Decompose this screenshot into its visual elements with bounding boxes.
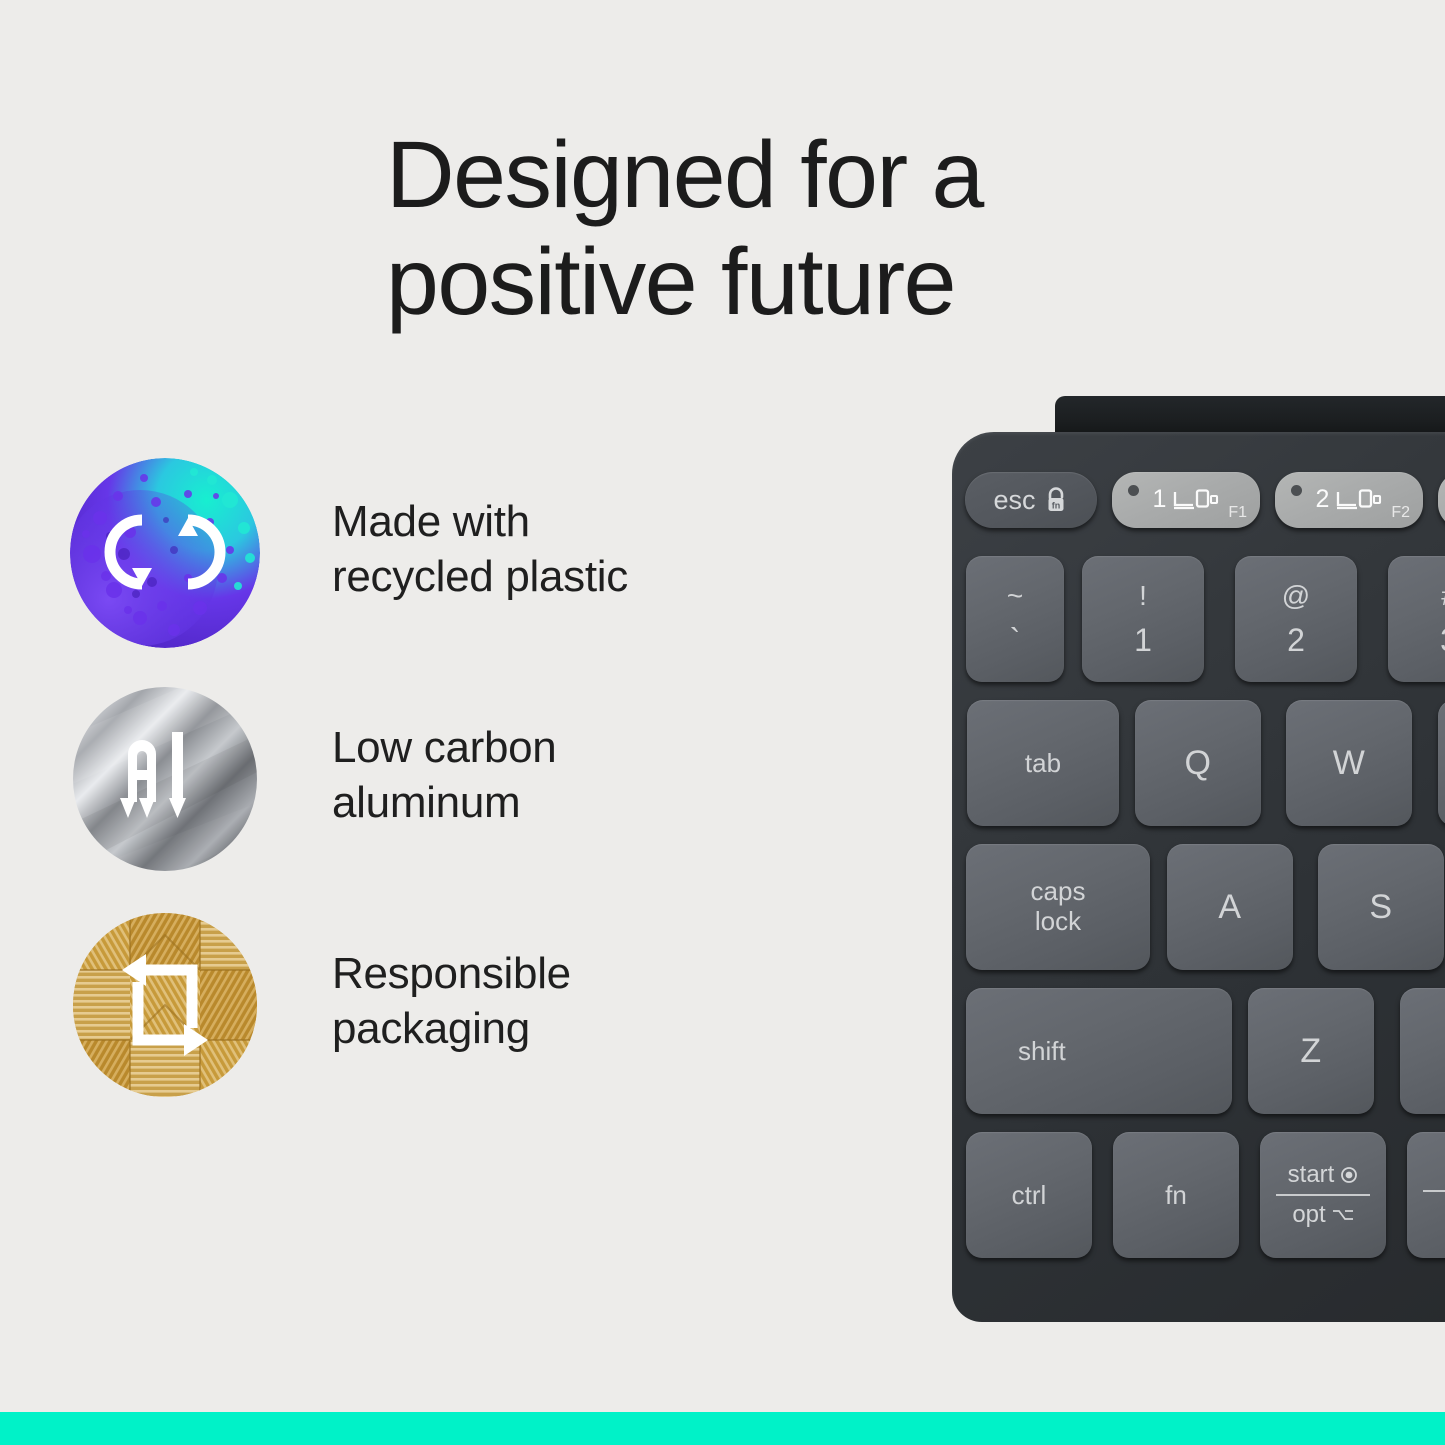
feature-low-carbon-aluminum: Low carbon aluminum [70, 684, 830, 910]
key-a-label: A [1218, 888, 1241, 927]
key-backtick-shift-label: ~ [1007, 580, 1023, 612]
key-3-shift-label: # [1441, 580, 1445, 612]
device-switch-icon [1171, 487, 1219, 513]
bottom-accent-bar [0, 1412, 1445, 1445]
feature-3-line-1: Responsible [332, 946, 802, 1001]
key-1[interactable]: ! 1 [1082, 556, 1204, 682]
key-start-label: start [1288, 1161, 1335, 1189]
feature-label-recycled-plastic: Made with recycled plastic [332, 494, 802, 604]
key-shift[interactable]: shift [966, 988, 1232, 1114]
key-3-label: 3 [1440, 622, 1445, 658]
key-cmd[interactable]: cmd [1407, 1132, 1445, 1258]
key-opt-label: opt [1292, 1201, 1325, 1229]
product-feature-panel: Designed for a positive future [0, 0, 1445, 1445]
sustainability-feature-list: Made with recycled plastic [70, 458, 830, 1136]
key-f3[interactable]: 3 F3 [1438, 472, 1445, 528]
key-esc-label: esc [993, 485, 1035, 516]
responsible-packaging-icon [70, 910, 260, 1100]
feature-recycled-plastic: Made with recycled plastic [70, 458, 830, 684]
page-title: Designed for a positive future [386, 122, 1146, 337]
key-caps-lock-line-2: lock [1035, 907, 1081, 937]
key-f1-label: 1 [1153, 485, 1167, 514]
windows-start-icon [1340, 1166, 1358, 1184]
key-3[interactable]: # 3 [1388, 556, 1445, 682]
key-w-label: W [1333, 744, 1366, 783]
key-f1[interactable]: 1 F1 [1112, 472, 1260, 528]
key-shift-label: shift [1018, 1036, 1066, 1067]
key-1-shift-label: ! [1139, 580, 1147, 612]
key-caps-lock-line-1: caps [1031, 877, 1086, 907]
feature-responsible-packaging: Responsible packaging [70, 910, 830, 1136]
key-z-label: Z [1300, 1032, 1321, 1071]
key-ctrl-label: ctrl [1012, 1180, 1047, 1211]
key-f2-label: 2 [1316, 485, 1330, 514]
key-tab-label: tab [1025, 748, 1061, 779]
device-switch-icon [1334, 487, 1382, 513]
headline-line-2: positive future [386, 229, 1146, 336]
feature-1-line-1: Made with [332, 494, 802, 549]
key-split-divider [1276, 1194, 1369, 1196]
key-cmd-divider [1423, 1190, 1445, 1192]
feature-2-line-1: Low carbon [332, 720, 802, 775]
key-e[interactable]: E [1438, 700, 1445, 826]
fn-lock-icon: fn [1043, 486, 1069, 514]
headline-line-1: Designed for a [386, 122, 1146, 229]
key-f1-sublabel: F1 [1228, 504, 1247, 522]
key-tab[interactable]: tab [967, 700, 1119, 826]
key-ctrl[interactable]: ctrl [966, 1132, 1092, 1258]
key-fn-label: fn [1165, 1180, 1187, 1211]
feature-label-responsible-packaging: Responsible packaging [332, 946, 802, 1056]
key-backtick[interactable]: ~ ` [966, 556, 1064, 682]
key-w[interactable]: W [1286, 700, 1412, 826]
key-2[interactable]: @ 2 [1235, 556, 1357, 682]
key-backtick-label: ` [1010, 622, 1021, 658]
key-start-opt[interactable]: start opt [1260, 1132, 1386, 1258]
svg-text:fn: fn [1051, 500, 1060, 510]
key-f2[interactable]: 2 F2 [1275, 472, 1423, 528]
feature-label-low-carbon-aluminum: Low carbon aluminum [332, 720, 802, 830]
key-fn[interactable]: fn [1113, 1132, 1239, 1258]
feature-3-line-2: packaging [332, 1001, 802, 1056]
keyboard-product-image: esc fn 1 [952, 396, 1445, 1326]
key-2-shift-label: @ [1282, 580, 1310, 612]
key-s[interactable]: S [1318, 844, 1444, 970]
key-esc[interactable]: esc fn [965, 472, 1097, 528]
low-carbon-aluminum-icon [70, 684, 260, 874]
feature-1-line-2: recycled plastic [332, 549, 802, 604]
key-1-label: 1 [1134, 622, 1152, 658]
key-q[interactable]: Q [1135, 700, 1261, 826]
option-icon [1332, 1208, 1354, 1222]
key-a[interactable]: A [1167, 844, 1293, 970]
key-f2-sublabel: F2 [1391, 504, 1410, 522]
key-caps-lock[interactable]: caps lock [966, 844, 1150, 970]
key-2-label: 2 [1287, 622, 1305, 658]
key-s-label: S [1369, 888, 1392, 927]
key-x[interactable]: X [1400, 988, 1445, 1114]
key-z[interactable]: Z [1248, 988, 1374, 1114]
keyboard-body: esc fn 1 [952, 432, 1445, 1322]
key-q-label: Q [1185, 744, 1212, 783]
recycled-plastic-icon [70, 458, 260, 648]
feature-2-line-2: aluminum [332, 775, 802, 830]
